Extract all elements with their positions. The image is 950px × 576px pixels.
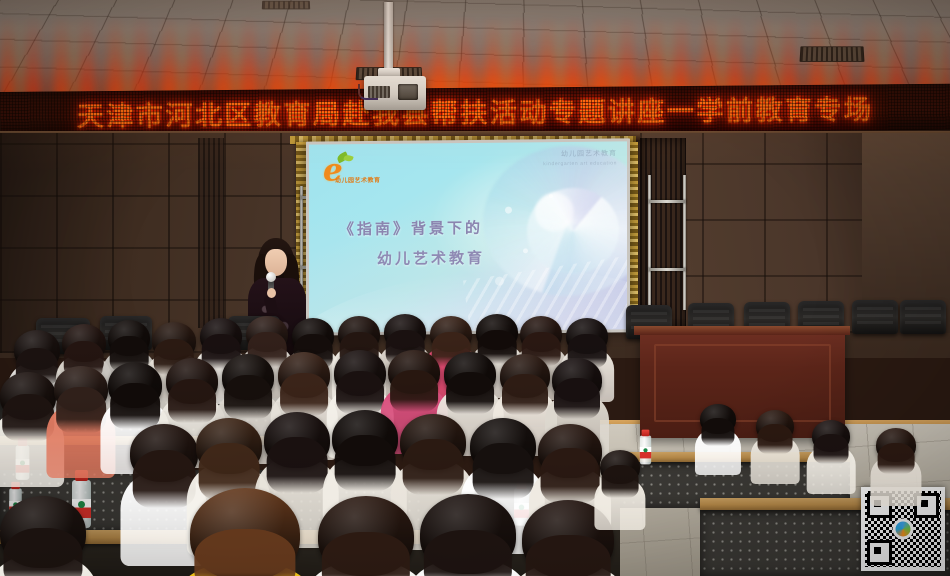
audience-hair xyxy=(446,372,494,414)
slide-title-line1: 《指南》背景下的 xyxy=(339,216,599,240)
audience-person xyxy=(318,496,414,576)
slide-corner-cn: 幼儿园艺术教育 xyxy=(543,148,617,159)
audience-hair xyxy=(758,424,793,454)
audience-hair xyxy=(878,443,915,474)
slide-logo: e 幼儿园艺术教育 xyxy=(321,152,383,187)
presenter-hand xyxy=(267,288,276,298)
slide-title-line2: 幼儿艺术教育 xyxy=(377,246,599,269)
audience-person xyxy=(812,420,850,500)
audience-person xyxy=(876,428,916,512)
audience-hair xyxy=(424,530,512,576)
slide-title: 《指南》背景下的 幼儿艺术教育 xyxy=(339,216,599,270)
ceiling-vent xyxy=(800,46,865,62)
wall-rail xyxy=(683,175,686,310)
ceiling xyxy=(0,0,950,96)
qr-finder-icon xyxy=(867,540,892,565)
audience-hair xyxy=(602,465,639,497)
slide-bubble xyxy=(505,207,512,214)
audience-hair xyxy=(403,439,464,495)
wall-rail xyxy=(648,200,686,203)
audience-hair xyxy=(56,387,106,433)
audience-hair xyxy=(335,435,396,491)
audience-hair xyxy=(194,529,295,576)
audience-hair xyxy=(701,418,734,447)
audience-hair xyxy=(168,379,216,424)
slide-corner-en: kindergarten art education xyxy=(543,160,617,167)
slide-logo-subtitle: 幼儿园艺术教育 xyxy=(335,175,381,184)
audience-person xyxy=(600,450,640,536)
audience-hair xyxy=(267,437,328,493)
projector-cable xyxy=(358,84,378,100)
slide-corner-label: 幼儿园艺术教育 kindergarten art education xyxy=(543,148,617,167)
audience-hair xyxy=(280,373,328,416)
audience-hair xyxy=(336,371,384,414)
audience-hair xyxy=(3,528,82,576)
leaf-icon xyxy=(343,154,353,162)
slide-bubble xyxy=(549,194,553,198)
wall-rail xyxy=(648,268,686,271)
audience-hair xyxy=(502,374,548,415)
audience-person xyxy=(420,494,516,576)
audience-hair xyxy=(390,370,438,412)
qr-center-logo xyxy=(893,519,914,540)
audience-hair xyxy=(526,535,611,576)
audience-person xyxy=(0,496,86,576)
led-banner: 天津市河北区教育局赴我县帮扶活动专题讲座一学前教育专场 xyxy=(0,84,950,138)
audience-hair xyxy=(814,434,849,464)
audience-hair xyxy=(110,383,160,429)
audience-hair xyxy=(554,378,600,419)
audience-person xyxy=(756,410,794,490)
wall-rail xyxy=(648,175,651,310)
led-banner-text: 天津市河北区教育局赴我县帮扶活动专题讲座一学前教育专场 xyxy=(77,88,874,134)
audience-hair xyxy=(473,443,534,499)
audience-hair xyxy=(541,448,600,503)
ceiling-vent xyxy=(262,1,310,10)
water-bottle xyxy=(640,430,651,465)
slide-bubble xyxy=(495,277,504,286)
audience-person xyxy=(190,488,300,576)
lecture-hall-photo: 天津市河北区教育局赴我县帮扶活动专题讲座一学前教育专场 e xyxy=(0,0,950,576)
audience-person xyxy=(700,404,736,480)
audience-hair xyxy=(322,532,410,576)
